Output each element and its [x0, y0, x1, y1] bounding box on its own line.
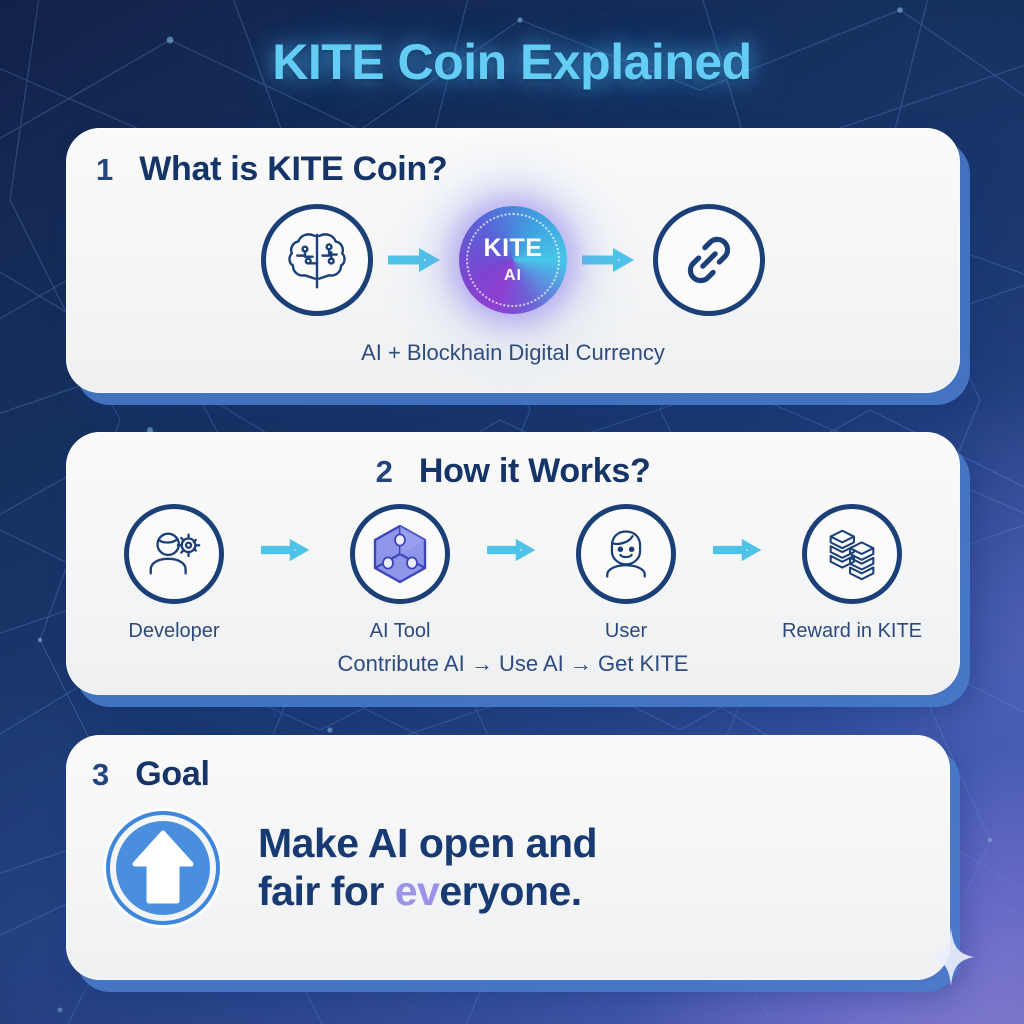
step-label-developer: Developer: [128, 620, 219, 643]
page-title: KITE Coin Explained: [0, 33, 1024, 91]
goal-line-2-pre: fair for: [258, 868, 395, 914]
arrow-right-icon-2: [567, 245, 653, 275]
goal-row: Make AI open and fair for everyone.: [102, 807, 950, 929]
chain-link-icon: [653, 204, 765, 316]
goal-line-2-accent: ev: [395, 868, 440, 914]
card1-caption: AI + Blockhain Digital Currency: [66, 340, 960, 366]
reward-stack-icon: [802, 504, 902, 604]
card-goal[interactable]: 3 Goal Make AI open and fair for everyon…: [66, 735, 950, 980]
card2-heading: How it Works?: [419, 452, 651, 491]
goal-line-2: fair for everyone.: [258, 868, 597, 916]
coin-title: KITE: [484, 236, 543, 261]
arrow-right-icon-1: [373, 245, 459, 275]
card2-flow: Developer: [66, 504, 960, 643]
brain-circuit-icon: [261, 204, 373, 316]
step-label-ai-tool: AI Tool: [370, 620, 431, 643]
step-reward: Reward in KITE: [777, 504, 927, 643]
step-label-reward: Reward in KITE: [782, 620, 922, 643]
sparkle-icon: [928, 928, 974, 986]
goal-line-1: Make AI open and: [258, 820, 597, 868]
arrow-right-icon-4: [475, 504, 551, 564]
card2-caption: Contribute AI → Use AI → Get KITE: [66, 651, 960, 677]
goal-statement: Make AI open and fair for everyone.: [258, 820, 597, 915]
goal-line-2-post: eryone.: [439, 868, 581, 914]
step-label-user: User: [605, 620, 647, 643]
card2-header: 2 How it Works?: [66, 452, 960, 491]
developer-icon: [124, 504, 224, 604]
step-developer: Developer: [99, 504, 249, 643]
user-icon: [576, 504, 676, 604]
card3-header: 3 Goal: [92, 755, 210, 794]
card1-header: 1 What is KITE Coin?: [96, 150, 447, 189]
arrow-right-icon-5: [701, 504, 777, 564]
card3-number: 3: [92, 757, 109, 793]
card-how-it-works[interactable]: 2 How it Works? Developer: [66, 432, 960, 695]
up-arrow-circle-icon: [102, 807, 224, 929]
infographic-poster: KITE Coin Explained 1 What is KITE Coin?: [0, 0, 1024, 1024]
card1-flow: KITE AI: [66, 204, 960, 316]
card2-number: 2: [376, 454, 393, 490]
step-user: User: [551, 504, 701, 643]
card1-number: 1: [96, 152, 113, 188]
ai-tool-cube-icon: [350, 504, 450, 604]
kite-coin-icon: KITE AI: [459, 206, 567, 314]
coin-subtitle: AI: [504, 268, 522, 284]
card1-heading: What is KITE Coin?: [139, 150, 447, 189]
card-what-is-kite-coin[interactable]: 1 What is KITE Coin?: [66, 128, 960, 393]
step-ai-tool: AI Tool: [325, 504, 475, 643]
card3-heading: Goal: [135, 755, 209, 794]
arrow-right-icon-3: [249, 504, 325, 564]
